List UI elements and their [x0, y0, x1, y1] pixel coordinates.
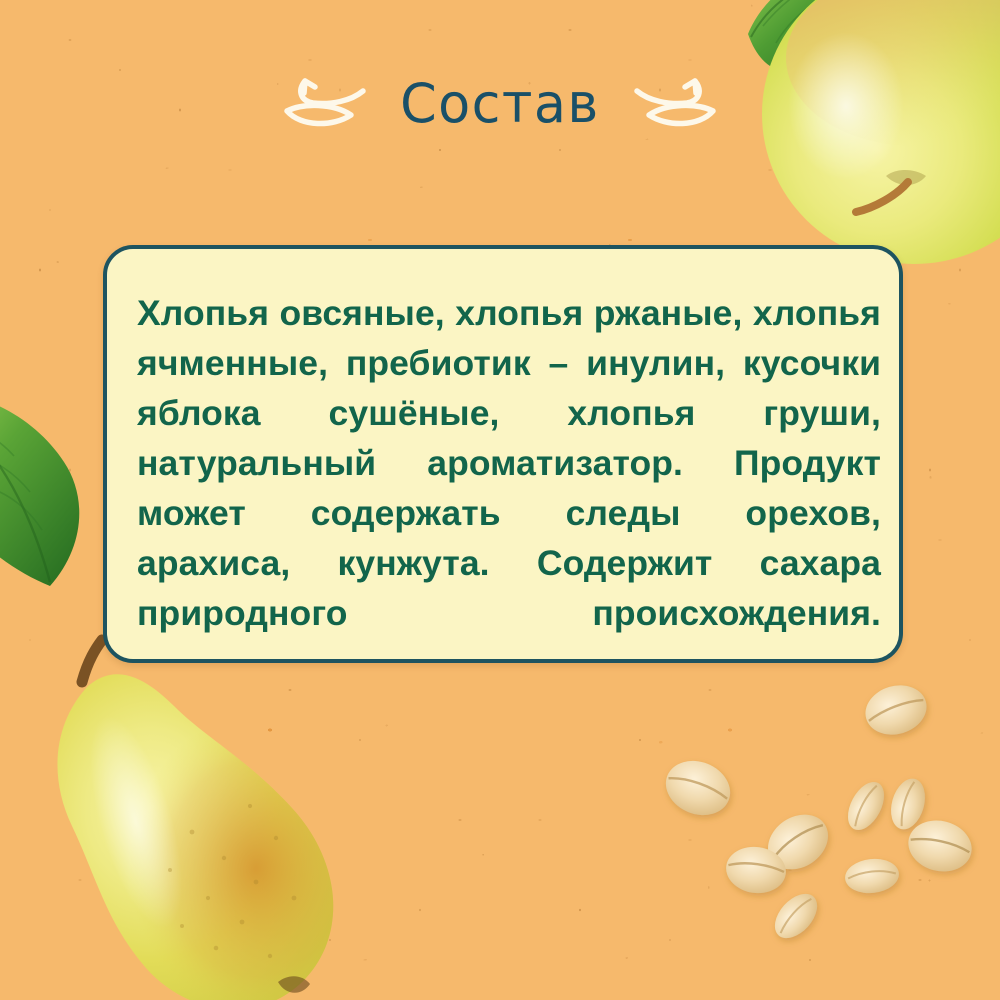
- page-title: Состав: [400, 77, 600, 131]
- ingredients-text: Хлопья овсяные, хлопья ржаные, хлопья яч…: [137, 288, 881, 663]
- apple-stem-shape: [856, 182, 908, 212]
- oat-grains-illustration: [650, 664, 980, 954]
- pear-illustration: [10, 626, 370, 1000]
- ingredients-card: Хлопья овсяные, хлопья ржаные, хлопья яч…: [103, 245, 903, 663]
- poster-canvas: Состав Хлопья овсяные, хлопья ржаные, хл…: [0, 0, 1000, 1000]
- pear-stem-shape: [82, 640, 102, 682]
- oat-grain-group: [658, 678, 977, 946]
- page-header: Состав: [0, 58, 1000, 150]
- leaf-flourish-left-icon: [279, 71, 371, 137]
- leaf-flourish-right-icon: [629, 71, 721, 137]
- leaf-shape: [0, 392, 79, 586]
- pear-body-shape: [57, 674, 333, 1000]
